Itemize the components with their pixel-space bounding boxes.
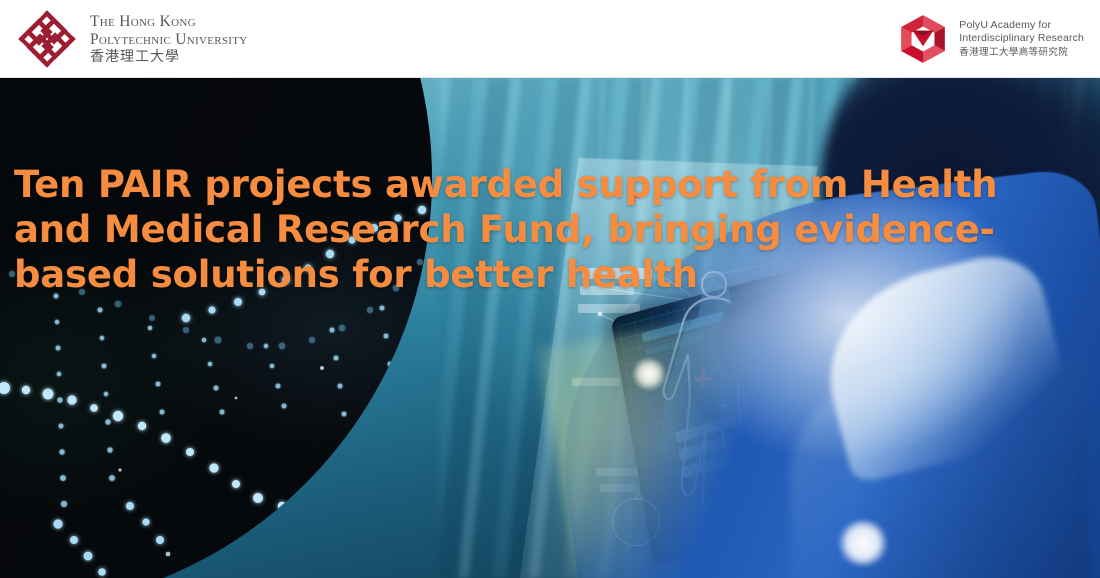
light-bokeh — [838, 520, 888, 566]
pair-cube-logo-icon — [897, 13, 949, 65]
page-root: The Hong Kong Polytechnic University 香港理… — [0, 0, 1100, 578]
polyu-wordmark: The Hong Kong Polytechnic University 香港理… — [90, 14, 248, 64]
polyu-brand[interactable]: The Hong Kong Polytechnic University 香港理… — [0, 10, 248, 68]
pair-name-line2: Interdisciplinary Research — [959, 32, 1084, 45]
polyu-knot-logo-icon — [18, 10, 76, 68]
pair-brand[interactable]: PolyU Academy for Interdisciplinary Rese… — [897, 13, 1100, 65]
polyu-name-line1: The Hong Kong — [90, 14, 248, 30]
page-title: Ten PAIR projects awarded support from H… — [14, 162, 1084, 297]
hero-banner: 46 73 30 26 6 SCAN — [0, 78, 1100, 578]
polyu-name-chinese: 香港理工大學 — [90, 50, 248, 64]
polyu-name-line2: Polytechnic University — [90, 32, 248, 48]
hero-title-block: Ten PAIR projects awarded support from H… — [0, 162, 1100, 297]
pair-name-line1: PolyU Academy for — [959, 19, 1084, 32]
site-header: The Hong Kong Polytechnic University 香港理… — [0, 0, 1100, 78]
hologram-node — [598, 312, 602, 316]
pair-wordmark: PolyU Academy for Interdisciplinary Rese… — [959, 19, 1084, 59]
light-bokeh — [632, 358, 666, 390]
pair-name-chinese: 香港理工大學高等研究院 — [959, 47, 1084, 59]
